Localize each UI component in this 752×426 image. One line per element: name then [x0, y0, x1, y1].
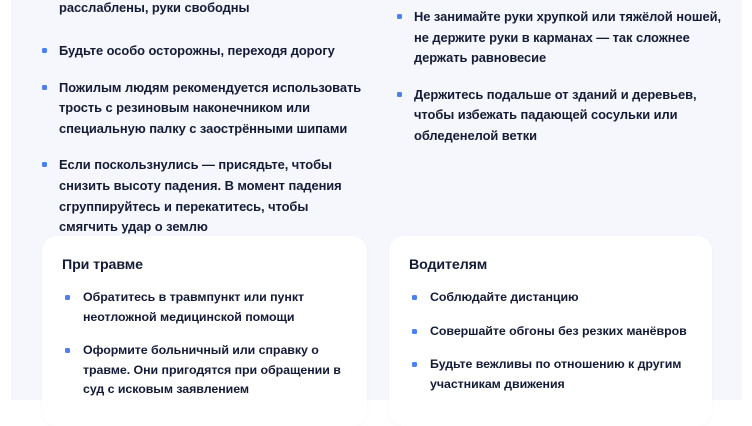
bottom-cards: При травме Обратитесь в травмпункт или п…	[11, 236, 742, 400]
list-item-text: Совершайте обгоны без резких манёвров	[430, 324, 687, 338]
list-item: Если поскользнулись — присядьте, чтобы с…	[38, 155, 368, 237]
list-item: Оформите больничный или справку о травме…	[62, 341, 349, 400]
list-item-text: Обратитесь в травмпункт или пункт неотло…	[83, 290, 304, 324]
card-title: Водителям	[389, 236, 712, 274]
top-columns: подошву. Ноги должны быть слегка расслаб…	[11, 0, 742, 228]
bullet-square-icon	[42, 48, 47, 53]
bullet-square-icon	[397, 92, 402, 97]
list-item: Пожилым людям рекомендуется использовать…	[38, 78, 368, 140]
bullet-square-icon	[412, 362, 417, 367]
bullet-square-icon	[65, 348, 70, 353]
list-item-text: Держитесь подальше от зданий и деревьев,…	[414, 87, 697, 143]
list-item: Обратитесь в травмпункт или пункт неотло…	[62, 288, 349, 327]
bullet-square-icon	[65, 295, 70, 300]
list-item: Держитесь подальше от зданий и деревьев,…	[393, 85, 723, 147]
left-column: Будьте особо осторожны, переходя дорогу …	[38, 0, 368, 238]
list-item-text: Будьте вежливы по отношению к другим уча…	[430, 357, 681, 391]
card-list: Соблюдайте дистанцию Совершайте обгоны б…	[389, 288, 712, 394]
list-item-text: Если поскользнулись — присядьте, чтобы с…	[59, 157, 342, 234]
list-item-text: Соблюдайте дистанцию	[430, 290, 579, 304]
card-drivers: Водителям Соблюдайте дистанцию Совершайт…	[389, 236, 712, 426]
bullet-square-icon	[42, 162, 47, 167]
card-title: При травме	[42, 236, 367, 274]
list-item: Не занимайте руки хрупкой или тяжёлой но…	[393, 7, 723, 69]
bullet-square-icon	[412, 329, 417, 334]
page-root: подошву. Ноги должны быть слегка расслаб…	[0, 0, 752, 400]
bullet-square-icon	[412, 295, 417, 300]
list-item: Соблюдайте дистанцию	[409, 288, 694, 308]
right-column: Не занимайте руки хрупкой или тяжёлой но…	[393, 0, 723, 147]
right-column-list: Не занимайте руки хрупкой или тяжёлой но…	[393, 0, 723, 147]
list-item-text: Оформите больничный или справку о травме…	[83, 343, 341, 396]
card-list: Обратитесь в травмпункт или пункт неотло…	[42, 288, 367, 400]
bullet-square-icon	[42, 85, 47, 90]
list-item: Будьте особо осторожны, переходя дорогу	[38, 41, 368, 62]
list-item-text: Будьте особо осторожны, переходя дорогу	[59, 43, 335, 58]
content-panel: подошву. Ноги должны быть слегка расслаб…	[11, 0, 742, 400]
list-item: Будьте вежливы по отношению к другим уча…	[409, 355, 694, 394]
list-item-text: Не занимайте руки хрупкой или тяжёлой но…	[414, 9, 721, 65]
list-item: Совершайте обгоны без резких манёвров	[409, 322, 694, 342]
list-item-text: Пожилым людям рекомендуется использовать…	[59, 80, 361, 136]
bullet-square-icon	[397, 14, 402, 19]
card-injury: При травме Обратитесь в травмпункт или п…	[42, 236, 367, 426]
left-column-list: Будьте особо осторожны, переходя дорогу …	[38, 0, 368, 238]
